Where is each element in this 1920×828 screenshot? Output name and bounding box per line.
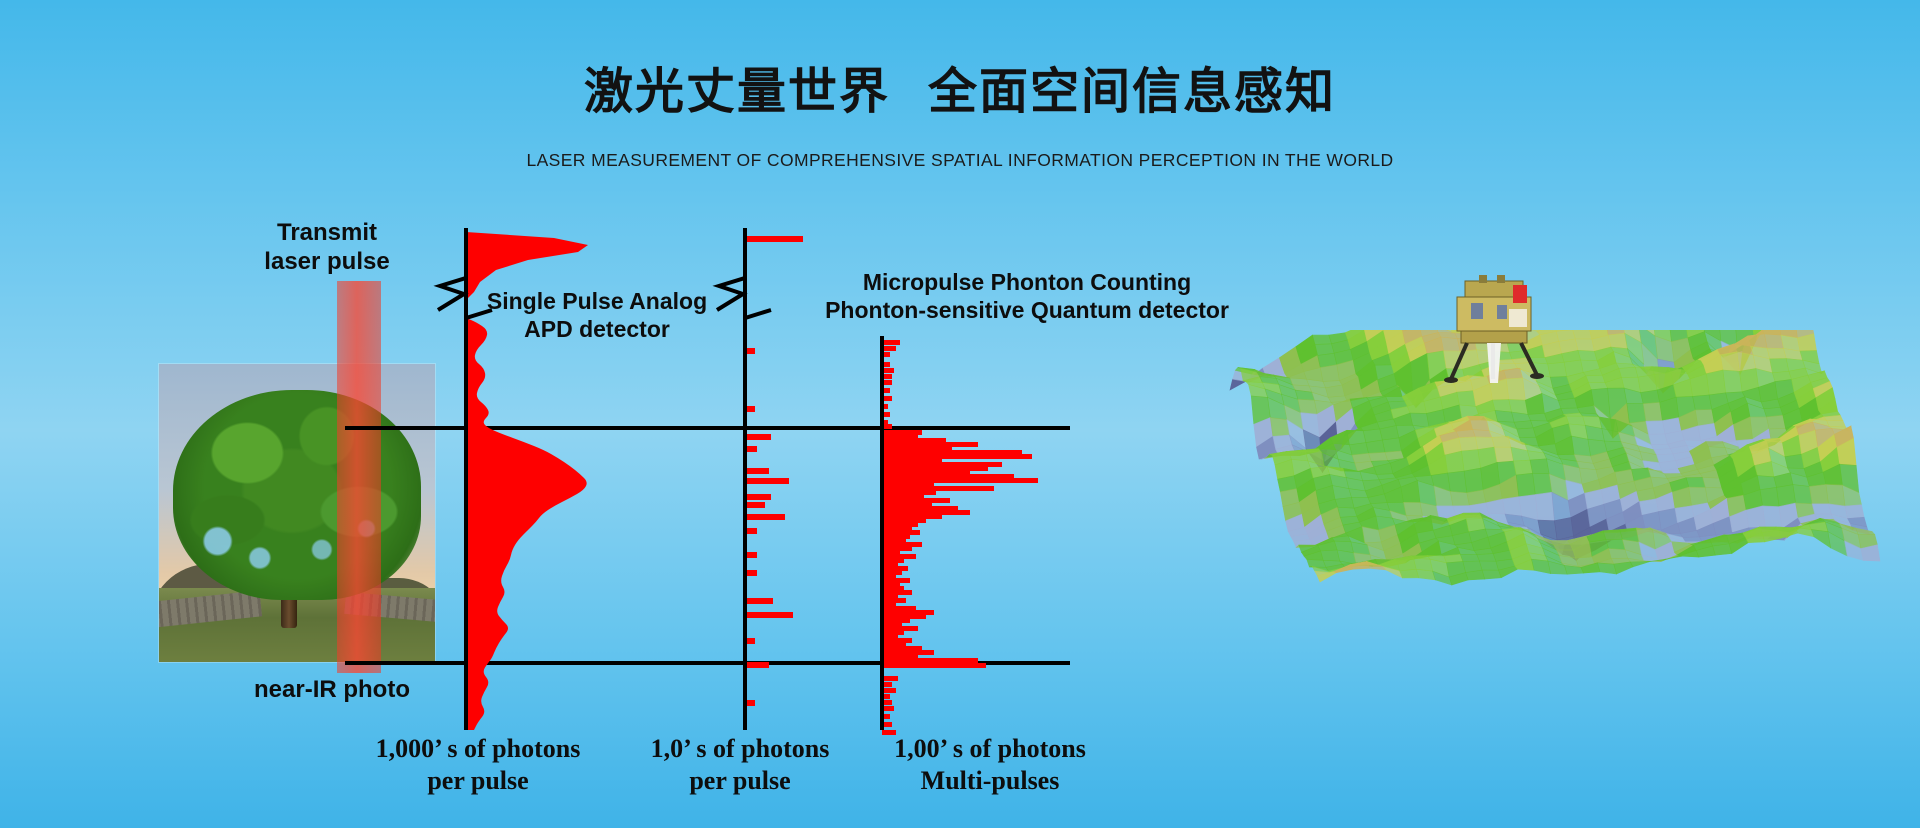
terrain-cell: [1785, 454, 1804, 468]
axis-column-1: [464, 228, 468, 280]
terrain-cell: [1349, 443, 1368, 456]
terrain-cell: [1404, 502, 1423, 516]
terrain-cell: [1695, 410, 1714, 426]
terrain-cell: [1456, 430, 1475, 438]
terrain-cell: [1689, 487, 1708, 506]
terrain-cell: [1535, 492, 1554, 521]
terrain-cell: [1554, 544, 1573, 550]
terrain-cell: [1479, 561, 1498, 570]
terrain-cell: [1321, 550, 1340, 561]
terrain-cell: [1516, 473, 1535, 497]
terrain-cell: [1826, 484, 1845, 506]
terrain-cell: [1827, 420, 1846, 427]
terrain-cell: [1470, 420, 1489, 431]
terrain-cell: [1494, 447, 1513, 462]
terrain-cell: [1460, 554, 1479, 561]
axis-break-icon: [715, 276, 775, 320]
terrain-cell: [1746, 506, 1765, 528]
waveform-return-bar: [882, 688, 896, 693]
terrain-cell: [1533, 473, 1552, 494]
terrain-cell: [1457, 391, 1476, 407]
terrain-cell: [1514, 460, 1533, 475]
terrain-cell: [1638, 375, 1657, 393]
terrain-cell: [1335, 497, 1354, 508]
axis-column-1b: [464, 316, 468, 730]
axis-break-icon: [436, 276, 496, 320]
terrain-cell: [1713, 544, 1732, 555]
waveform-return-bar: [882, 663, 986, 668]
terrain-cell: [1812, 504, 1831, 514]
terrain-cell: [1767, 415, 1786, 429]
axis-column-2b: [743, 316, 747, 730]
terrain-cell: [1809, 484, 1828, 503]
waveform-return-bar: [882, 658, 978, 663]
terrain-cell: [1686, 477, 1705, 487]
terrain-cell: [1320, 365, 1339, 382]
terrain-cell: [1703, 477, 1722, 488]
terrain-cell: [1369, 452, 1388, 461]
3d-terrain-model-icon: [1190, 330, 1890, 750]
terrain-cell: [1400, 569, 1419, 578]
waveform-return-bar: [882, 346, 896, 351]
lunar-lander-icon: [1435, 275, 1555, 385]
waveform-return-bar: [882, 730, 896, 735]
terrain-cell: [1683, 537, 1702, 542]
terrain-cell: [1646, 421, 1665, 435]
terrain-cell: [1492, 437, 1511, 448]
terrain-cell: [1270, 418, 1289, 437]
terrain-cell: [1606, 540, 1625, 550]
terrain-cell: [1630, 562, 1649, 567]
poster-canvas: 激光丈量世界 全面空间信息感知 LASER MEASUREMENT OF COM…: [0, 0, 1920, 828]
terrain-cell: [1619, 367, 1638, 377]
terrain-cell: [1767, 348, 1786, 359]
terrain-cell: [1845, 505, 1864, 519]
terrain-cell: [1764, 334, 1783, 349]
terrain-cell: [1723, 370, 1742, 393]
terrain-cell: [1530, 459, 1549, 474]
terrain-cell: [1482, 570, 1501, 579]
terrain-cell: [1763, 506, 1782, 529]
terrain-cell: [1312, 335, 1331, 344]
terrain-cell: [1603, 530, 1622, 540]
terrain-cell: [1815, 514, 1834, 520]
terrain-cell: [1793, 485, 1812, 504]
terrain-cell: [1382, 438, 1401, 453]
terrain-cell: [1614, 562, 1633, 574]
terrain-cell: [1459, 437, 1478, 451]
terrain-cell: [1528, 413, 1547, 421]
terrain-cell: [1477, 554, 1496, 562]
terrain-cell: [1338, 507, 1357, 517]
terrain-cell: [1586, 375, 1605, 383]
terrain-cell: [1643, 402, 1662, 421]
terrain-cell: [1450, 491, 1469, 506]
terrain-cell: [1608, 333, 1627, 348]
terrain-cell: [1464, 513, 1483, 519]
terrain-cell: [1575, 339, 1594, 351]
terrain-cell: [1707, 370, 1726, 395]
terrain-cell: [1641, 390, 1660, 404]
waveform-return-bar: [882, 340, 900, 345]
terrain-cell: [1445, 451, 1464, 473]
axis-column-3: [880, 336, 884, 730]
terrain-cell: [1578, 350, 1597, 361]
terrain-cell: [1760, 487, 1779, 506]
terrain-cell: [1777, 485, 1796, 507]
terrain-cell: [1347, 430, 1366, 445]
terrain-cell: [1462, 450, 1481, 472]
terrain-cell: [1573, 330, 1592, 339]
terrain-cell: [1464, 468, 1483, 493]
waveform-return-bar: [882, 676, 898, 681]
terrain-cell: [1720, 352, 1739, 372]
terrain-cell: [1448, 471, 1467, 493]
terrain-cell: [1770, 359, 1789, 373]
terrain-cell: [1467, 416, 1486, 420]
terrain-cell: [1609, 549, 1628, 559]
terrain-cell: [1693, 395, 1712, 410]
terrain-cell: [1366, 440, 1385, 453]
terrain-cell: [1627, 403, 1646, 423]
terrain-cell: [1298, 399, 1317, 414]
terrain-cell: [1517, 428, 1536, 438]
terrain-cell: [1502, 497, 1521, 516]
terrain-cell: [1649, 434, 1668, 445]
axis-column-2: [743, 228, 747, 280]
